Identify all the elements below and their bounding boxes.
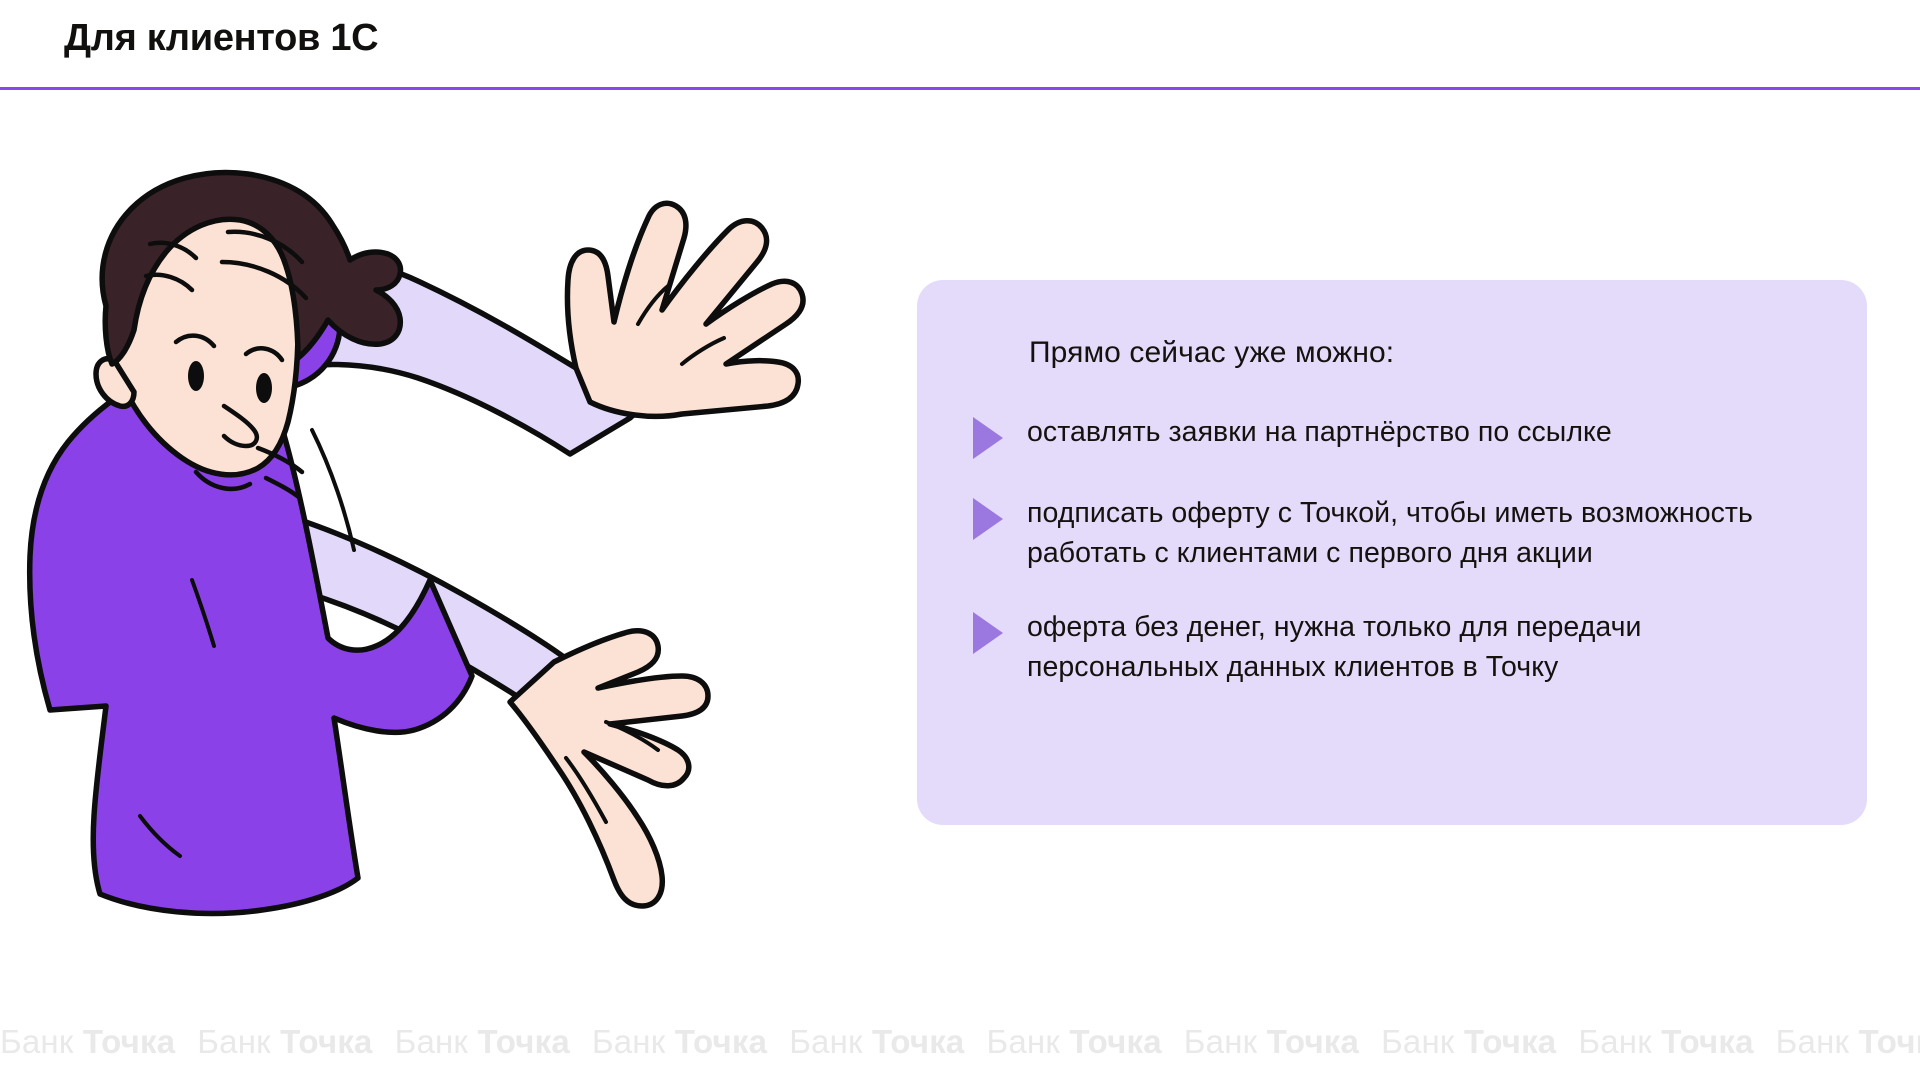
list-item: подписать оферту с Точкой, чтобы иметь в…: [945, 493, 1807, 573]
illustration-svg: [10, 110, 950, 970]
header-divider: [0, 87, 1920, 90]
watermark-light-word: Банк: [592, 1023, 675, 1060]
watermark-unit: Банк Точка: [0, 1023, 175, 1061]
footer-watermark: Банк ТочкаБанк ТочкаБанк ТочкаБанк Точка…: [0, 1012, 1920, 1072]
watermark-unit: Банк Точка: [1776, 1023, 1920, 1061]
watermark-light-word: Банк: [1381, 1023, 1464, 1060]
watermark-unit: Банк Точка: [789, 1023, 964, 1061]
watermark-bold-word: Точка: [83, 1023, 175, 1060]
watermark-unit: Банк Точка: [592, 1023, 767, 1061]
triangle-right-icon: [973, 498, 1003, 540]
bullet-list: оставлять заявки на партнёрство по ссылк…: [945, 412, 1807, 687]
eye-left: [188, 361, 204, 391]
watermark-bold-word: Точка: [675, 1023, 767, 1060]
eye-right: [256, 373, 272, 403]
watermark-bold-word: Точка: [280, 1023, 372, 1060]
watermark-bold-word: Точка: [477, 1023, 569, 1060]
list-item: оферта без денег, нужна только для перед…: [945, 607, 1807, 687]
watermark-bold-word: Точка: [1661, 1023, 1753, 1060]
watermark-bold-word: Точка: [1859, 1023, 1920, 1060]
watermark-light-word: Банк: [1184, 1023, 1267, 1060]
triangle-right-icon: [973, 417, 1003, 459]
watermark-light-word: Банк: [789, 1023, 872, 1060]
page-title: Для клиентов 1С: [64, 17, 378, 60]
watermark-bold-word: Точка: [1464, 1023, 1556, 1060]
info-panel: Прямо сейчас уже можно: оставлять заявки…: [917, 280, 1867, 825]
watermark-light-word: Банк: [0, 1023, 83, 1060]
upper-hand-shape: [567, 203, 803, 416]
bullet-text: оставлять заявки на партнёрство по ссылк…: [1027, 412, 1612, 452]
watermark-light-word: Банк: [197, 1023, 280, 1060]
triangle-right-icon: [973, 612, 1003, 654]
watermark-light-word: Банк: [1776, 1023, 1859, 1060]
watermark-light-word: Банк: [986, 1023, 1069, 1060]
panel-intro-text: Прямо сейчас уже можно:: [1029, 336, 1807, 370]
watermark-unit: Банк Точка: [1381, 1023, 1556, 1061]
slide-header: Для клиентов 1С: [0, 0, 1920, 90]
watermark-unit: Банк Точка: [395, 1023, 570, 1061]
watermark-bold-word: Точка: [1069, 1023, 1161, 1060]
person-reaching-illustration: [10, 110, 950, 970]
watermark-bold-word: Точка: [872, 1023, 964, 1060]
watermark-unit: Банк Точка: [986, 1023, 1161, 1061]
list-item: оставлять заявки на партнёрство по ссылк…: [945, 412, 1807, 459]
watermark-light-word: Банк: [1578, 1023, 1661, 1060]
watermark-unit: Банк Точка: [197, 1023, 372, 1061]
lower-hand-shape: [510, 631, 708, 906]
bullet-text: подписать оферту с Точкой, чтобы иметь в…: [1027, 493, 1807, 573]
watermark-unit: Банк Точка: [1184, 1023, 1359, 1061]
watermark-bold-word: Точка: [1267, 1023, 1359, 1060]
watermark-light-word: Банк: [395, 1023, 478, 1060]
bullet-text: оферта без денег, нужна только для перед…: [1027, 607, 1807, 687]
watermark-unit: Банк Точка: [1578, 1023, 1753, 1061]
